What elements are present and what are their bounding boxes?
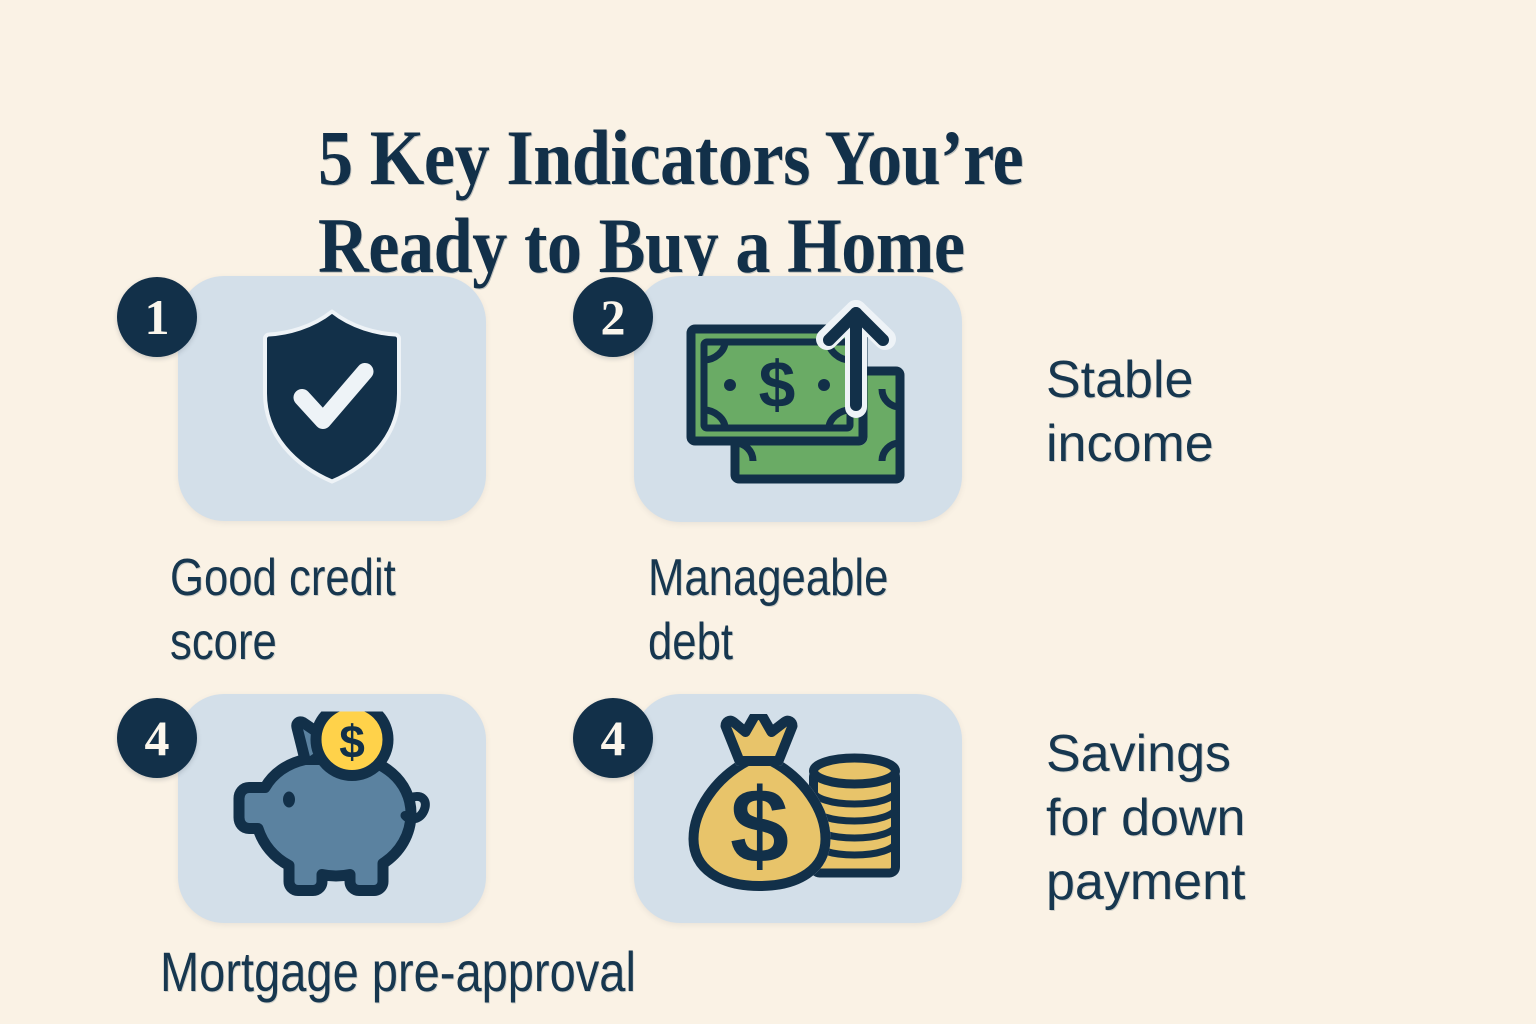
- indicator-card-1[interactable]: [178, 276, 486, 521]
- piggy-bank-icon: $: [227, 711, 437, 906]
- indicator-card-2[interactable]: $: [634, 276, 962, 522]
- infographic-canvas: 5 Key Indicators You’re Ready to Buy a H…: [0, 0, 1536, 1024]
- indicator-badge-1: 1: [117, 277, 197, 357]
- shield-check-icon: [257, 307, 407, 490]
- indicator-side-label-savings-line-1: Savings: [1046, 722, 1245, 786]
- indicator-side-label-savings-line-2: for down: [1046, 786, 1245, 850]
- indicator-label-1: Good credit score: [170, 546, 396, 674]
- svg-text:$: $: [339, 715, 365, 767]
- indicator-label-2: Manageable debt: [648, 546, 888, 674]
- indicator-label-1-line-1: Good credit: [170, 546, 396, 610]
- indicator-side-label-savings: Savings for down payment: [1046, 722, 1245, 914]
- indicator-label-3: Mortgage pre-approval: [160, 940, 636, 1004]
- indicator-label-2-line-2: debt: [648, 610, 888, 674]
- svg-text:$: $: [759, 347, 796, 421]
- indicator-side-label-income: Stable income: [1046, 348, 1214, 476]
- page-title: 5 Key Indicators You’re Ready to Buy a H…: [318, 114, 1218, 290]
- indicator-side-label-income-line-2: income: [1046, 412, 1214, 476]
- indicator-badge-4: 4: [573, 698, 653, 778]
- indicator-side-label-savings-line-3: payment: [1046, 850, 1245, 914]
- indicator-label-2-line-1: Manageable: [648, 546, 888, 610]
- money-bag-coins-icon: $: [686, 714, 911, 904]
- svg-text:$: $: [730, 767, 789, 885]
- indicator-badge-2: 2: [573, 277, 653, 357]
- money-bills-up-arrow-icon: $: [673, 289, 923, 509]
- indicator-badge-3: 4: [117, 698, 197, 778]
- page-title-line-1: 5 Key Indicators You’re: [318, 114, 1218, 202]
- indicator-card-4[interactable]: $: [634, 694, 962, 923]
- indicator-label-1-line-2: score: [170, 610, 396, 674]
- indicator-label-3-line-1: Mortgage pre-approval: [160, 940, 636, 1004]
- indicator-side-label-income-line-1: Stable: [1046, 348, 1214, 412]
- indicator-card-3[interactable]: $: [178, 694, 486, 923]
